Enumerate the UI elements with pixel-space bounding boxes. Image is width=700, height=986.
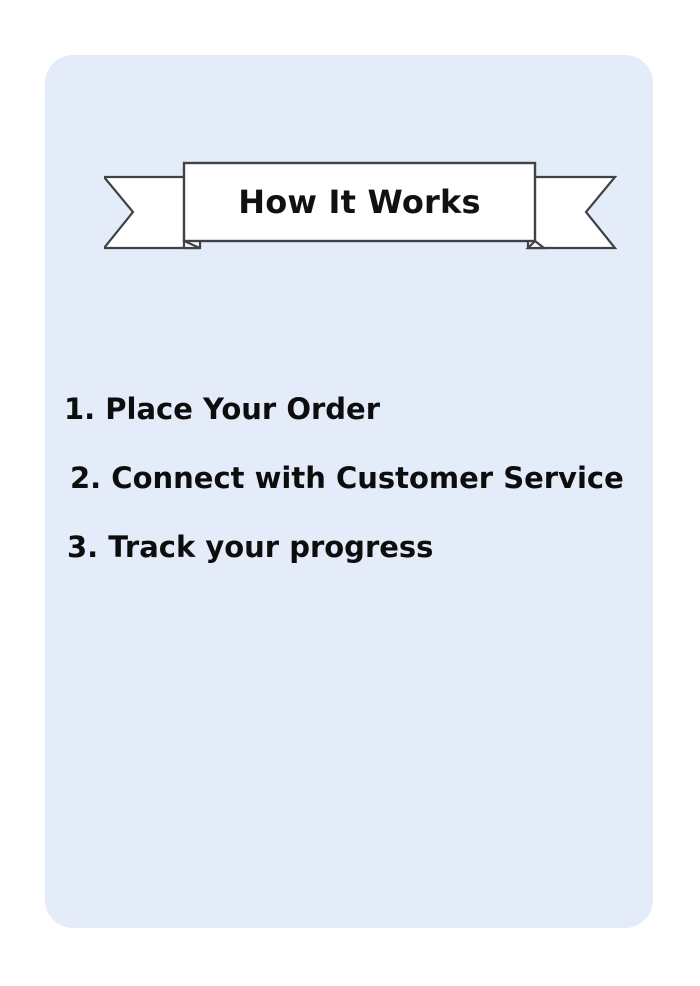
ribbon-banner: How It Works [104, 155, 624, 260]
step-item-2: 2. Connect with Customer Service [70, 464, 653, 493]
step-item-1: 1. Place Your Order [64, 395, 653, 424]
steps-list: 1. Place Your Order 2. Connect with Cust… [45, 395, 653, 562]
info-card: How It Works 1. Place Your Order 2. Conn… [45, 55, 653, 928]
step-item-3: 3. Track your progress [67, 533, 653, 562]
ribbon-right-tail [528, 177, 615, 248]
page-title: How It Works [184, 163, 535, 241]
